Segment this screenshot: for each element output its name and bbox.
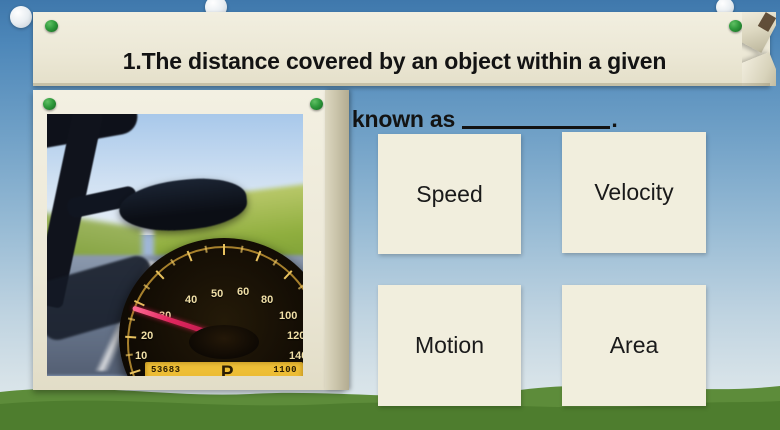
pin-photo-top-left [43, 98, 56, 110]
photo-paper-edge [325, 90, 349, 390]
answer-option-speed[interactable]: Speed [378, 134, 521, 254]
gauge-hub [189, 325, 259, 359]
question-line-1: 1.The distance covered by an object with… [33, 47, 756, 76]
answer-blank [462, 126, 610, 129]
gauge-label-10: 10 [135, 350, 147, 362]
pin-head-left [10, 6, 32, 28]
question-line-2-suffix: . [611, 106, 617, 132]
question-card: 1.The distance covered by an object with… [33, 12, 770, 86]
gauge-label-100: 100 [279, 310, 297, 322]
pin-photo-top-right [310, 98, 323, 110]
gauge-label-140: 140 [289, 350, 303, 362]
speedometer-gauge: 10 20 30 40 50 60 80 100 120 140 160 536… [119, 238, 303, 376]
lcd-rpm: 1100 [273, 365, 297, 375]
gauge-label-40: 40 [185, 294, 197, 306]
answer-option-area[interactable]: Area [562, 285, 706, 406]
speedometer-photo: 10 20 30 40 50 60 80 100 120 140 160 536… [47, 114, 303, 376]
gauge-label-120: 120 [287, 330, 303, 342]
quiz-slide: 1.The distance covered by an object with… [0, 0, 780, 430]
pin-card-top-right [729, 20, 742, 32]
pin-card-top-left [45, 20, 58, 32]
answer-option-velocity[interactable]: Velocity [562, 132, 706, 253]
gauge-label-50: 50 [211, 288, 223, 300]
lcd-odometer: 53683 [151, 365, 181, 375]
photo-card: 10 20 30 40 50 60 80 100 120 140 160 536… [33, 90, 345, 390]
question-number: 1. [123, 48, 142, 74]
gauge-label-60: 60 [237, 286, 249, 298]
lcd-gear-indicator: P [221, 363, 234, 376]
gauge-label-20: 20 [141, 330, 153, 342]
dashboard-lcd: 53683 1100 1093 5 7 P [145, 362, 303, 376]
gauge-label-80: 80 [261, 294, 273, 306]
question-line-1-text: The distance covered by an object within… [142, 48, 667, 74]
answer-option-motion[interactable]: Motion [378, 285, 521, 406]
